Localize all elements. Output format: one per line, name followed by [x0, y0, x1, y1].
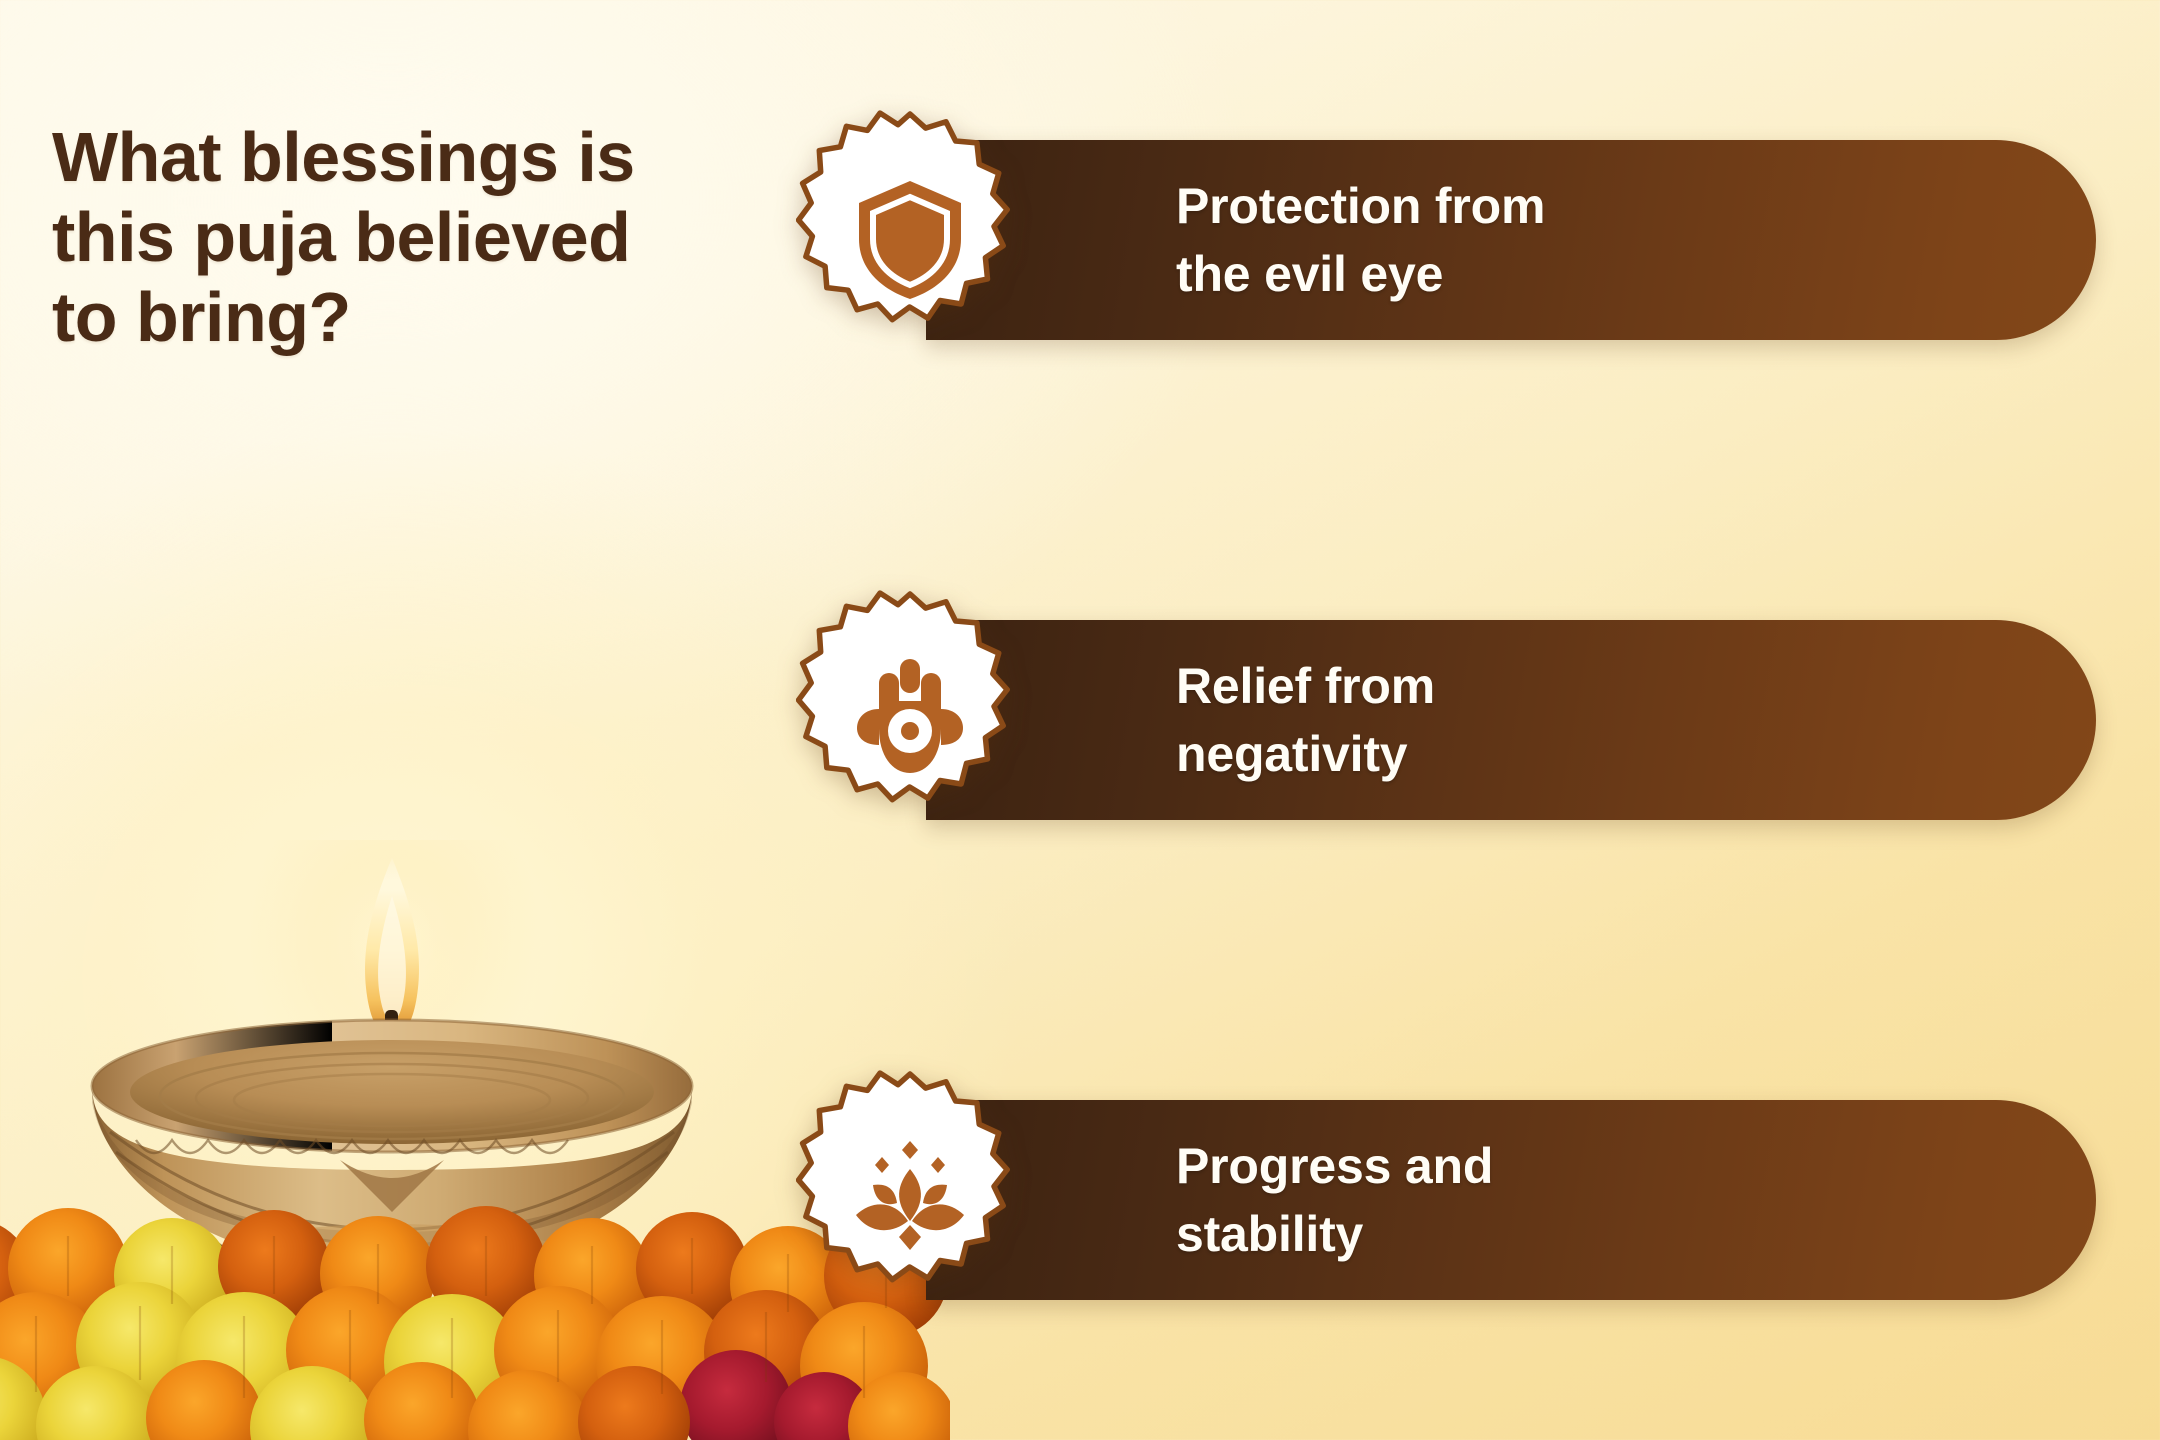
- headline-line-1: What blessings is: [52, 118, 772, 198]
- pill-line-3b: stability: [1176, 1200, 1493, 1268]
- blessings-card-list: Protection from the evil eye Relief from…: [796, 140, 2096, 1300]
- page-title: What blessings is this puja believed to …: [52, 118, 772, 357]
- pill-text-2: Relief from negativity: [1176, 652, 1555, 788]
- pill-line-2a: Relief from: [1176, 652, 1435, 720]
- pill-background-2: Relief from negativity: [926, 620, 2096, 820]
- blessing-card-relief[interactable]: Relief from negativity: [796, 620, 2096, 820]
- pill-text-3: Progress and stability: [1176, 1132, 1613, 1268]
- lotus-flower-icon: [851, 1137, 969, 1263]
- blessing-card-progress[interactable]: Progress and stability: [796, 1100, 2096, 1300]
- pill-background-3: Progress and stability: [926, 1100, 2096, 1300]
- pill-line-3a: Progress and: [1176, 1132, 1493, 1200]
- blessing-card-protection[interactable]: Protection from the evil eye: [796, 140, 2096, 340]
- pill-text-1: Protection from the evil eye: [1176, 172, 1665, 308]
- badge-2: [796, 588, 1024, 852]
- headline-line-3: to bring?: [52, 278, 772, 358]
- pill-line-1a: Protection from: [1176, 172, 1545, 240]
- pill-background-1: Protection from the evil eye: [926, 140, 2096, 340]
- pill-line-2b: negativity: [1176, 720, 1435, 788]
- badge-1: [796, 108, 1024, 372]
- headline-line-2: this puja believed: [52, 198, 772, 278]
- shield-icon: [851, 177, 969, 303]
- pill-line-1b: the evil eye: [1176, 240, 1545, 308]
- hamsa-hand-icon: [851, 657, 969, 783]
- badge-3: [796, 1068, 1024, 1332]
